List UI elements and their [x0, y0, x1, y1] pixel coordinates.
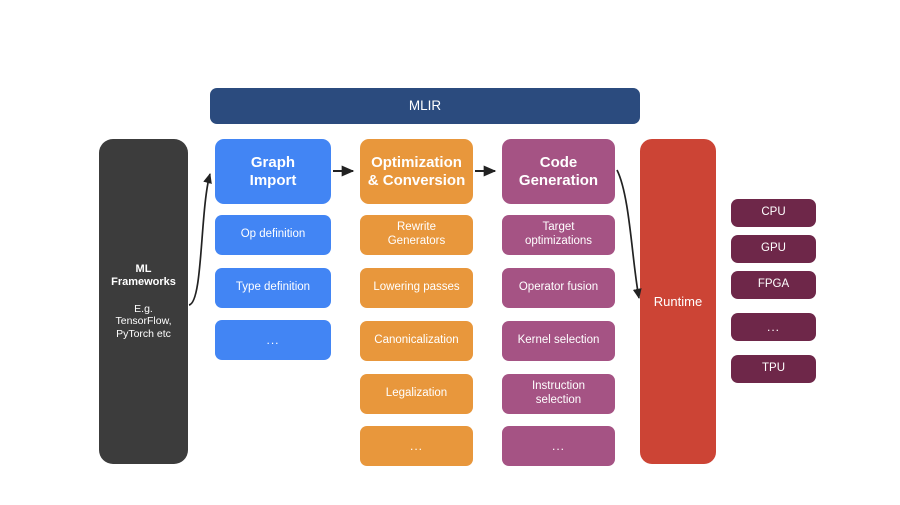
- optimization-item-label: ...: [410, 439, 423, 453]
- codegen-item-target-optimizations: Target optimizations: [502, 215, 615, 255]
- codegen-item-label: ...: [552, 439, 565, 453]
- graph-import-item-label: Op definition: [241, 228, 306, 242]
- ml-frameworks-box: ML Frameworks E.g. TensorFlow, PyTorch e…: [99, 139, 188, 464]
- arrow-codegen-to-runtime: [617, 170, 639, 298]
- optimization-item-lowering-passes: Lowering passes: [360, 268, 473, 308]
- hardware-target-label: GPU: [761, 242, 786, 256]
- codegen-item-kernel-selection: Kernel selection: [502, 321, 615, 361]
- arrow-frameworks-to-graph-import: [189, 174, 210, 305]
- codegen-item-more: ...: [502, 426, 615, 466]
- runtime-box: Runtime: [640, 139, 716, 464]
- hardware-target-more: ...: [731, 313, 816, 341]
- optimization-item-label: Lowering passes: [373, 281, 459, 295]
- graph-import-item-op-definition: Op definition: [215, 215, 331, 255]
- hardware-target-cpu: CPU: [731, 199, 816, 227]
- ml-frameworks-subtitle: E.g. TensorFlow, PyTorch etc: [115, 303, 171, 340]
- graph-import-item-label: Type definition: [236, 281, 310, 295]
- codegen-item-label: Operator fusion: [519, 281, 598, 295]
- hardware-target-label: ...: [767, 320, 780, 334]
- diagram-canvas: MLIR ML Frameworks E.g. TensorFlow, PyTo…: [0, 0, 900, 505]
- mlir-bar: MLIR: [210, 88, 640, 124]
- codegen-item-label: Kernel selection: [518, 334, 600, 348]
- code-generation-head: Code Generation: [502, 139, 615, 204]
- ml-frameworks-title: ML Frameworks: [111, 263, 176, 289]
- hardware-target-fpga: FPGA: [731, 271, 816, 299]
- graph-import-item-more: ...: [215, 320, 331, 360]
- graph-import-item-type-definition: Type definition: [215, 268, 331, 308]
- runtime-label: Runtime: [654, 294, 702, 309]
- optimization-item-canonicalization: Canonicalization: [360, 321, 473, 361]
- optimization-item-label: Canonicalization: [374, 334, 458, 348]
- code-generation-head-label: Code Generation: [519, 154, 598, 189]
- hardware-target-label: TPU: [762, 362, 785, 376]
- hardware-target-tpu: TPU: [731, 355, 816, 383]
- optimization-item-more: ...: [360, 426, 473, 466]
- codegen-item-label: Instruction selection: [532, 380, 585, 407]
- optimization-item-legalization: Legalization: [360, 374, 473, 414]
- codegen-item-instruction-selection: Instruction selection: [502, 374, 615, 414]
- codegen-item-operator-fusion: Operator fusion: [502, 268, 615, 308]
- hardware-target-label: CPU: [761, 206, 785, 220]
- graph-import-head-label: Graph Import: [250, 154, 297, 189]
- codegen-item-label: Target optimizations: [525, 221, 592, 248]
- hardware-target-label: FPGA: [758, 278, 789, 292]
- graph-import-head: Graph Import: [215, 139, 331, 204]
- optimization-item-label: Legalization: [386, 387, 447, 401]
- optimization-conversion-head-label: Optimization & Conversion: [368, 154, 466, 189]
- mlir-label: MLIR: [409, 98, 441, 114]
- hardware-target-gpu: GPU: [731, 235, 816, 263]
- graph-import-item-label: ...: [266, 333, 279, 347]
- optimization-item-rewrite-generators: Rewrite Generators: [360, 215, 473, 255]
- optimization-conversion-head: Optimization & Conversion: [360, 139, 473, 204]
- optimization-item-label: Rewrite Generators: [388, 221, 446, 248]
